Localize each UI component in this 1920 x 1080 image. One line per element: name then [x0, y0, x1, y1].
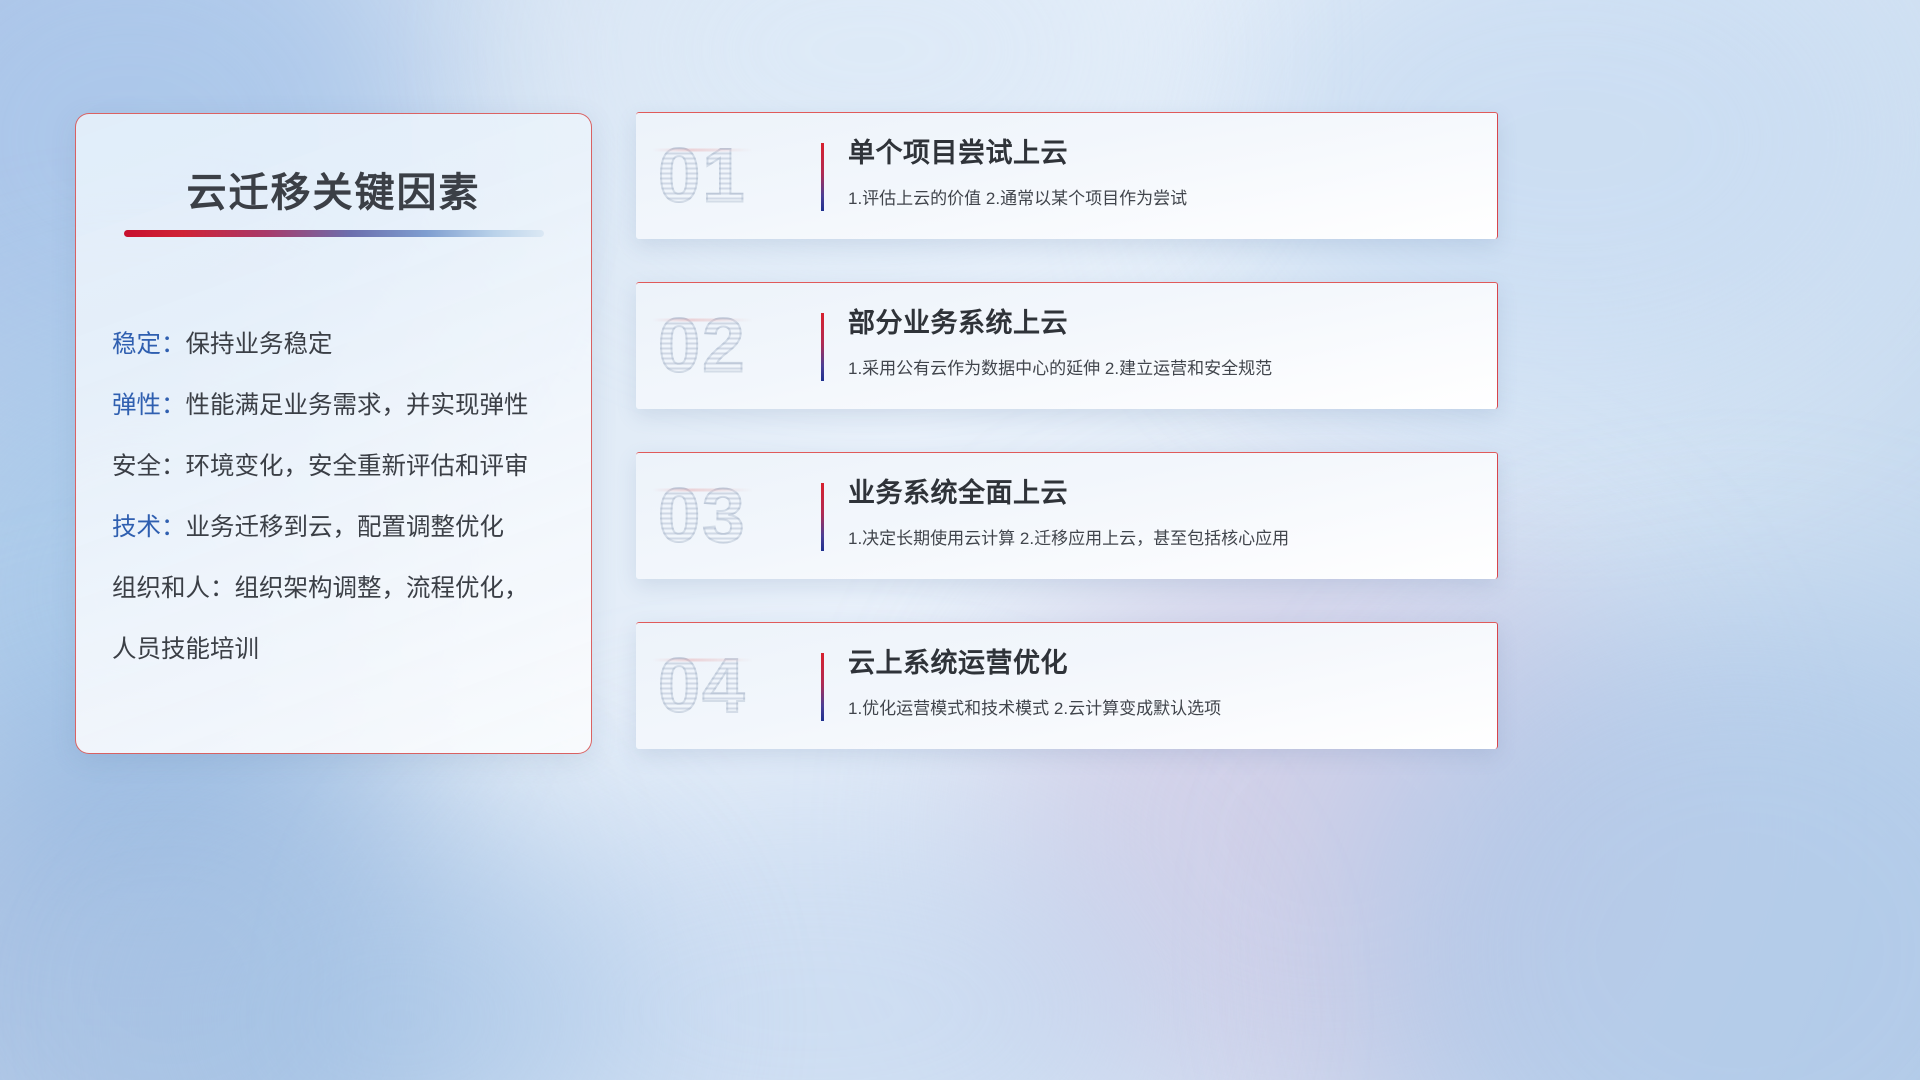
stage-card[interactable]: 04 云上系统运营优化 1.优化运营模式和技术模式 2.云计算变成默认选项: [636, 622, 1498, 749]
list-item: 稳定： 保持业务稳定: [112, 312, 569, 373]
stage-card-title: 云上系统运营优化: [848, 647, 1473, 681]
factor-label: 弹性：: [112, 386, 186, 421]
stage-card-body: 部分业务系统上云 1.采用公有云作为数据中心的延伸 2.建立运营和安全规范: [848, 307, 1473, 379]
stage-card-body: 业务系统全面上云 1.决定长期使用云计算 2.迁移应用上云，甚至包括核心应用: [848, 477, 1473, 549]
accent-bar: [821, 653, 824, 721]
accent-bar: [821, 143, 824, 211]
page-title: 云迁移关键因素: [76, 160, 591, 218]
factor-label: 组织和人：: [112, 569, 235, 604]
accent-bar: [821, 313, 824, 381]
stage-card-title: 部分业务系统上云: [848, 307, 1473, 341]
stage-card[interactable]: 03 业务系统全面上云 1.决定长期使用云计算 2.迁移应用上云，甚至包括核心应…: [636, 452, 1498, 579]
stage-card-body: 云上系统运营优化 1.优化运营模式和技术模式 2.云计算变成默认选项: [848, 647, 1473, 719]
accent-bar: [821, 483, 824, 551]
stage-card-description: 1.决定长期使用云计算 2.迁移应用上云，甚至包括核心应用: [848, 524, 1473, 549]
factor-label: 安全：: [112, 447, 186, 482]
factor-list: 稳定： 保持业务稳定 弹性： 性能满足业务需求，并实现弹性 安全： 环境变化，安…: [112, 312, 569, 678]
stage-card-description: 1.优化运营模式和技术模式 2.云计算变成默认选项: [848, 694, 1473, 719]
stage-card[interactable]: 02 部分业务系统上云 1.采用公有云作为数据中心的延伸 2.建立运营和安全规范: [636, 282, 1498, 409]
slide-stage: 云迁移关键因素 稳定： 保持业务稳定 弹性： 性能满足业务需求，并实现弹性 安全…: [0, 0, 1920, 1080]
list-item: 安全： 环境变化，安全重新评估和评审: [112, 434, 569, 495]
list-item: 弹性： 性能满足业务需求，并实现弹性: [112, 373, 569, 434]
factor-label: 稳定：: [112, 325, 186, 360]
factor-text: 性能满足业务需求，并实现弹性: [186, 386, 529, 421]
stage-number: 03: [658, 473, 747, 560]
factor-text: 组织架构调整，流程优化，: [235, 569, 529, 604]
key-factors-panel: 云迁移关键因素 稳定： 保持业务稳定 弹性： 性能满足业务需求，并实现弹性 安全…: [75, 113, 592, 754]
list-item: 组织和人： 组织架构调整，流程优化，: [112, 556, 569, 617]
factor-text: 环境变化，安全重新评估和评审: [186, 447, 529, 482]
factor-text: 人员技能培训: [112, 630, 259, 665]
list-item: 人员技能培训: [112, 617, 569, 678]
factor-text: 业务迁移到云，配置调整优化: [186, 508, 505, 543]
stage-card-title: 单个项目尝试上云: [848, 137, 1473, 171]
stage-card-description: 1.采用公有云作为数据中心的延伸 2.建立运营和安全规范: [848, 354, 1473, 379]
factor-label: 技术：: [112, 508, 186, 543]
stage-number: 02: [658, 303, 747, 390]
list-item: 技术： 业务迁移到云，配置调整优化: [112, 495, 569, 556]
stage-card-title: 业务系统全面上云: [848, 477, 1473, 511]
stage-number: 04: [658, 643, 747, 730]
factor-text: 保持业务稳定: [186, 325, 333, 360]
title-underline-gradient: [124, 230, 544, 237]
stage-card-body: 单个项目尝试上云 1.评估上云的价值 2.通常以某个项目作为尝试: [848, 137, 1473, 209]
stage-card-list: 01 单个项目尝试上云 1.评估上云的价值 2.通常以某个项目作为尝试 02 部…: [636, 112, 1498, 749]
stage-card-description: 1.评估上云的价值 2.通常以某个项目作为尝试: [848, 184, 1473, 209]
stage-number: 01: [658, 133, 747, 220]
stage-card[interactable]: 01 单个项目尝试上云 1.评估上云的价值 2.通常以某个项目作为尝试: [636, 112, 1498, 239]
